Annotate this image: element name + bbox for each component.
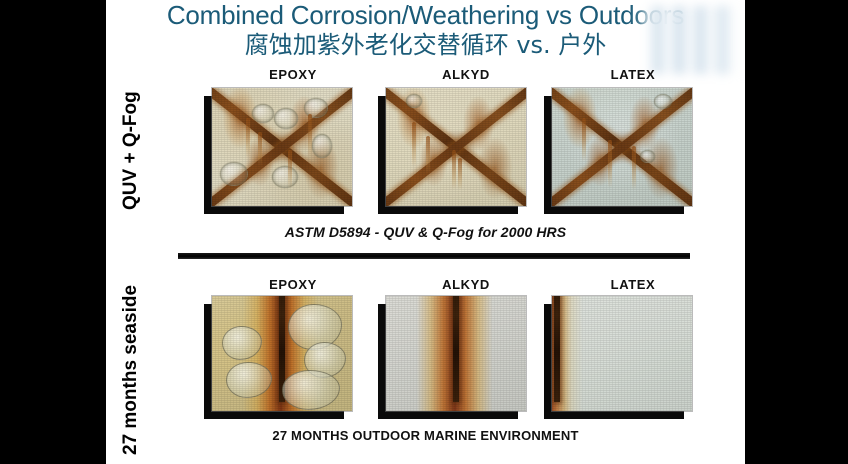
row-divider xyxy=(178,253,690,259)
column-header-epoxy-bottom: EPOXY xyxy=(228,277,358,292)
video-frame: Combined Corrosion/Weathering vs Outdoor… xyxy=(0,0,848,464)
panel-surface-latex-quv xyxy=(552,88,692,206)
panel-quv-latex xyxy=(544,88,684,206)
panel-surface-alkyd-quv xyxy=(386,88,526,206)
row-label-quv-qfog: QUV + Q-Fog xyxy=(120,91,142,210)
column-header-latex-top: LATEX xyxy=(568,67,698,82)
caption-quv-row: ASTM D5894 - QUV & Q-Fog for 2000 HRS xyxy=(106,224,745,240)
panel-surface-latex-seaside xyxy=(552,296,692,411)
presentation-slide: Combined Corrosion/Weathering vs Outdoor… xyxy=(106,0,745,464)
letterbox-right xyxy=(745,0,848,464)
photo-grain xyxy=(552,88,692,206)
panel-seaside-latex xyxy=(544,296,684,411)
letterbox-left xyxy=(0,0,106,464)
column-header-alkyd-top: ALKYD xyxy=(401,67,531,82)
panel-seaside-alkyd xyxy=(378,296,518,411)
panel-quv-alkyd xyxy=(378,88,518,206)
photo-grain xyxy=(212,296,352,411)
photo-grain xyxy=(552,296,692,411)
column-header-epoxy-top: EPOXY xyxy=(228,67,358,82)
panel-surface-epoxy-seaside xyxy=(212,296,352,411)
column-header-alkyd-bottom: ALKYD xyxy=(401,277,531,292)
row-label-27-months-seaside: 27 months seaside xyxy=(120,285,142,455)
photo-grain xyxy=(386,296,526,411)
panel-quv-epoxy xyxy=(204,88,344,206)
column-header-latex-bottom: LATEX xyxy=(568,277,698,292)
blurred-watermark-icon xyxy=(647,6,745,74)
caption-seaside-row: 27 MONTHS OUTDOOR MARINE ENVIRONMENT xyxy=(106,428,745,443)
panel-surface-epoxy-quv xyxy=(212,88,352,206)
panel-surface-alkyd-seaside xyxy=(386,296,526,411)
panel-seaside-epoxy xyxy=(204,296,344,411)
photo-grain xyxy=(212,88,352,206)
photo-grain xyxy=(386,88,526,206)
